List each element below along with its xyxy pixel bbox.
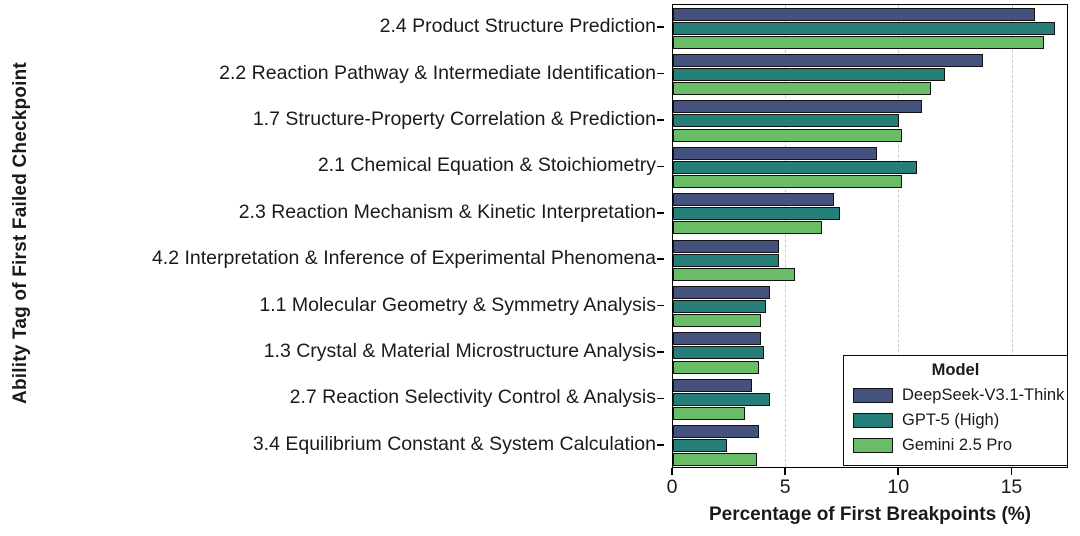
bar <box>673 300 766 313</box>
y-axis-tick-labels: 2.4 Product Structure Prediction2.2 Reac… <box>44 4 664 468</box>
legend-item-label: DeepSeek-V3.1-Think <box>902 386 1064 405</box>
legend: Model DeepSeek-V3.1-ThinkGPT-5 (High)Gem… <box>843 355 1068 466</box>
bar <box>673 453 757 466</box>
bar <box>673 393 770 406</box>
legend-swatch <box>853 413 893 428</box>
bar <box>673 82 931 95</box>
bar <box>673 221 822 234</box>
x-tick-mark <box>1011 468 1013 475</box>
bar <box>673 22 1055 35</box>
bar <box>673 286 770 299</box>
bar <box>673 346 764 359</box>
legend-item[interactable]: DeepSeek-V3.1-Think <box>853 383 1058 408</box>
y-tick-mark <box>657 305 664 307</box>
bar <box>673 175 902 188</box>
bar <box>673 379 752 392</box>
bar <box>673 36 1044 49</box>
bar <box>673 439 727 452</box>
x-tick-mark <box>671 468 673 475</box>
legend-item-label: GPT-5 (High) <box>902 411 999 430</box>
bar <box>673 407 745 420</box>
x-axis-ticks: 051015 <box>0 468 1080 502</box>
bar <box>673 8 1035 21</box>
legend-item[interactable]: Gemini 2.5 Pro <box>853 433 1058 458</box>
bar <box>673 114 899 127</box>
legend-item-label: Gemini 2.5 Pro <box>902 436 1012 455</box>
bar-group <box>673 51 1067 97</box>
bar-group <box>673 237 1067 283</box>
bar-group <box>673 191 1067 237</box>
bar <box>673 54 983 67</box>
x-tick-label: 15 <box>1001 476 1023 499</box>
x-tick-label: 5 <box>780 476 791 499</box>
bar <box>673 68 945 81</box>
bar <box>673 100 922 113</box>
bar <box>673 361 759 374</box>
bar <box>673 161 917 174</box>
bar <box>673 129 902 142</box>
legend-title: Model <box>853 361 1058 380</box>
bar <box>673 147 877 160</box>
y-tick-mark <box>657 73 664 75</box>
x-tick-mark <box>784 468 786 475</box>
x-tick-label: 0 <box>667 476 678 499</box>
x-axis-title: Percentage of First Breakpoints (%) <box>672 504 1068 526</box>
legend-item[interactable]: GPT-5 (High) <box>853 408 1058 433</box>
x-tick-mark <box>897 468 899 475</box>
bar <box>673 254 779 267</box>
bar-group <box>673 144 1067 190</box>
bar <box>673 240 779 253</box>
y-tick-mark <box>657 166 664 168</box>
bar-chart-figure: Ability Tag of First Failed Checkpoint 2… <box>0 0 1080 536</box>
bar <box>673 332 761 345</box>
legend-swatch <box>853 438 893 453</box>
y-tick-mark <box>657 212 664 214</box>
bar <box>673 193 834 206</box>
y-tick-mark <box>657 119 664 121</box>
y-tick-mark <box>657 444 664 446</box>
legend-swatch <box>853 388 893 403</box>
bar <box>673 314 761 327</box>
y-tick-mark <box>657 258 664 260</box>
bar <box>673 425 759 438</box>
y-axis-title: Ability Tag of First Failed Checkpoint <box>10 0 32 468</box>
y-tick-mark <box>657 398 664 400</box>
bar <box>673 268 795 281</box>
bar <box>673 207 840 220</box>
y-tick-mark <box>657 26 664 28</box>
legend-rows: DeepSeek-V3.1-ThinkGPT-5 (High)Gemini 2.… <box>853 383 1058 458</box>
bar-group <box>673 5 1067 51</box>
x-tick-label: 10 <box>887 476 909 499</box>
bar-group <box>673 98 1067 144</box>
y-tick-mark <box>657 351 664 353</box>
bar-group <box>673 283 1067 329</box>
